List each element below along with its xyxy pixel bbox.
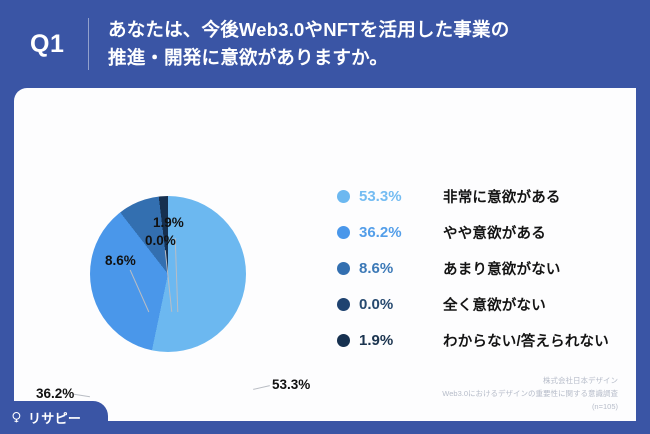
legend-swatch-icon xyxy=(337,190,350,203)
legend-row[interactable]: 36.2%やや意欲がある xyxy=(337,214,636,250)
pie-label-8: 8.6% xyxy=(105,253,136,268)
legend-percent: 0.0% xyxy=(359,296,443,313)
question-number: Q1 xyxy=(30,30,88,59)
source-note: 株式会社日本デザイン Web3.0におけるデザインの重要性に関する意識調査 (n… xyxy=(442,374,618,413)
legend-label: 全く意欲がない xyxy=(443,294,546,315)
pie-label-36: 36.2% xyxy=(36,386,74,401)
legend-row[interactable]: 0.0%全く意欲がない xyxy=(337,286,636,322)
legend-row[interactable]: 1.9%わからない/答えられない xyxy=(337,322,636,358)
leader-line-53 xyxy=(253,385,270,390)
leader-line-36 xyxy=(74,394,90,397)
source-company: 株式会社日本デザイン xyxy=(442,374,618,387)
legend-swatch-icon xyxy=(337,298,350,311)
legend-swatch-icon xyxy=(337,262,350,275)
legend-label: やや意欲がある xyxy=(443,222,546,243)
legend-row[interactable]: 8.6%あまり意欲がない xyxy=(337,250,636,286)
brand-logo[interactable]: リサピー xyxy=(0,401,108,434)
pie-label-1: 1.9% xyxy=(153,215,184,230)
pie-chart: 53.3% 36.2% 8.6% 0.0% 1.9% xyxy=(14,88,344,421)
pie-label-0: 0.0% xyxy=(145,233,176,248)
legend-row[interactable]: 53.3%非常に意欲がある xyxy=(337,178,636,214)
legend-percent: 8.6% xyxy=(359,260,443,277)
result-card: 53.3% 36.2% 8.6% 0.0% 1.9% 53.3%非常に意欲がある… xyxy=(14,88,636,421)
legend-percent: 53.3% xyxy=(359,188,443,205)
legend-label: あまり意欲がない xyxy=(443,258,561,279)
question-header: Q1 あなたは、今後Web3.0やNFTを活用した事業の 推進・開発に意欲があり… xyxy=(0,0,650,88)
question-title: あなたは、今後Web3.0やNFTを活用した事業の 推進・開発に意欲がありますか… xyxy=(108,16,509,72)
chart-legend: 53.3%非常に意欲がある36.2%やや意欲がある8.6%あまり意欲がない0.0… xyxy=(337,178,636,358)
legend-swatch-icon xyxy=(337,334,350,347)
legend-swatch-icon xyxy=(337,226,350,239)
pie-label-53: 53.3% xyxy=(272,377,310,392)
legend-percent: 1.9% xyxy=(359,332,443,349)
brand-name: リサピー xyxy=(28,408,81,427)
header-divider xyxy=(88,18,89,70)
source-survey: Web3.0におけるデザインの重要性に関する意識調査 xyxy=(442,387,618,400)
magnifier-icon xyxy=(11,411,24,424)
legend-label: 非常に意欲がある xyxy=(443,186,561,207)
legend-percent: 36.2% xyxy=(359,224,443,241)
legend-label: わからない/答えられない xyxy=(443,330,609,351)
source-sample: (n=105) xyxy=(442,400,618,413)
